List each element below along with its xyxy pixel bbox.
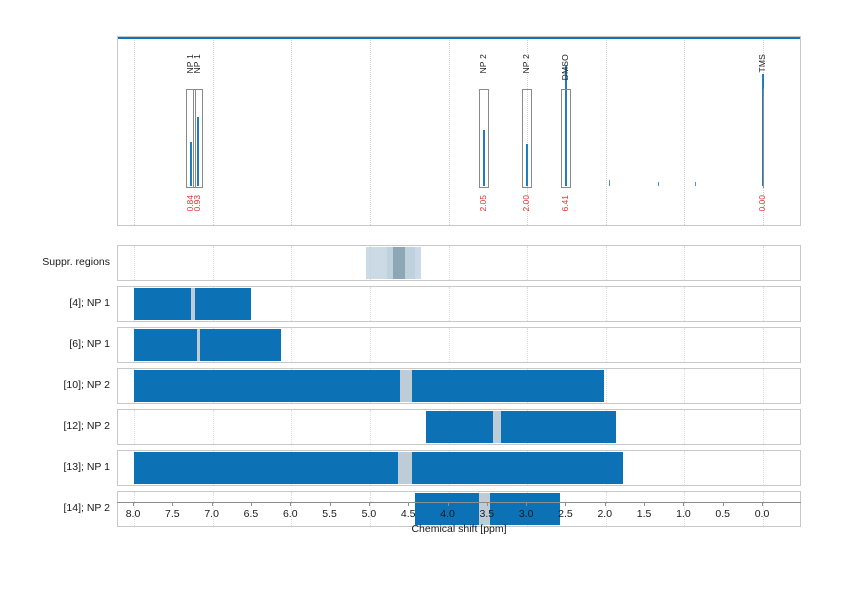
- track-row[interactable]: [117, 450, 801, 486]
- axis-tick: [487, 502, 488, 506]
- track-row[interactable]: [117, 368, 801, 404]
- axis-tick: [565, 502, 566, 506]
- gridline: [134, 410, 136, 444]
- axis-tick: [290, 502, 291, 506]
- axis-tick-label: 1.5: [637, 508, 652, 520]
- assignment-bar: [501, 411, 616, 443]
- track-row[interactable]: [117, 286, 801, 322]
- axis-tick: [644, 502, 645, 506]
- gridline: [763, 410, 765, 444]
- gridline: [134, 37, 136, 225]
- gridline: [370, 410, 372, 444]
- axis-tick-label: 0.0: [755, 508, 770, 520]
- axis-tick-label: 4.0: [440, 508, 455, 520]
- gridline: [763, 451, 765, 485]
- gridline: [291, 287, 293, 321]
- gridline: [763, 369, 765, 403]
- gridline: [606, 246, 608, 280]
- integration-box: [479, 89, 489, 188]
- track-row[interactable]: [117, 409, 801, 445]
- gridline: [291, 246, 293, 280]
- axis-tick-label: 7.5: [165, 508, 180, 520]
- x-axis-title: Chemical shift [ppm]: [117, 523, 801, 535]
- gridline: [370, 37, 372, 225]
- gridline: [291, 328, 293, 362]
- track-row[interactable]: [117, 327, 801, 363]
- axis-tick-label: 7.0: [204, 508, 219, 520]
- axis-tick-label: 3.0: [519, 508, 534, 520]
- gridline: [684, 328, 686, 362]
- x-axis: [117, 502, 801, 503]
- gridline: [684, 287, 686, 321]
- axis-tick-label: 4.5: [401, 508, 416, 520]
- suppression-gap: [400, 370, 412, 402]
- axis-tick: [212, 502, 213, 506]
- assignment-bar: [134, 329, 197, 361]
- minor-peak: [658, 182, 659, 186]
- gridline: [763, 287, 765, 321]
- assignment-bar: [134, 452, 398, 484]
- axis-tick-label: 5.5: [322, 508, 337, 520]
- gridline: [684, 410, 686, 444]
- integral-value: 6.41: [560, 195, 570, 212]
- gridline: [370, 328, 372, 362]
- track-label: Suppr. regions: [0, 256, 110, 268]
- track-label: [13]; NP 1: [0, 461, 110, 473]
- assignment-bar: [195, 288, 251, 320]
- gridline: [606, 287, 608, 321]
- axis-tick: [526, 502, 527, 506]
- axis-tick: [683, 502, 684, 506]
- peak-label: TMS: [757, 54, 767, 73]
- minor-peak: [609, 180, 610, 187]
- axis-tick-label: 2.5: [558, 508, 573, 520]
- peak-label: NP 1: [192, 54, 202, 74]
- spectrum-panel: [117, 36, 801, 226]
- gridline: [527, 328, 529, 362]
- gridline: [213, 37, 215, 225]
- assignment-bar: [426, 411, 492, 443]
- gridline: [684, 37, 686, 225]
- assignment-bar: [412, 452, 624, 484]
- gridline: [449, 287, 451, 321]
- gridline: [449, 37, 451, 225]
- gridline: [606, 369, 608, 403]
- axis-tick: [408, 502, 409, 506]
- axis-tick-label: 3.5: [480, 508, 495, 520]
- axis-tick: [605, 502, 606, 506]
- axis-tick-label: 0.5: [715, 508, 730, 520]
- axis-tick: [723, 502, 724, 506]
- track-row[interactable]: [117, 491, 801, 527]
- axis-tick-label: 6.5: [244, 508, 259, 520]
- gridline: [763, 246, 765, 280]
- gridline: [291, 410, 293, 444]
- axis-tick-label: 2.0: [597, 508, 612, 520]
- axis-tick: [133, 502, 134, 506]
- suppression-band: [393, 247, 405, 279]
- axis-tick: [369, 502, 370, 506]
- axis-tick-label: 6.0: [283, 508, 298, 520]
- gridline: [370, 287, 372, 321]
- integration-box: [193, 89, 203, 188]
- spectrum-baseline: [118, 37, 800, 39]
- peak-label: DMSO: [560, 54, 570, 80]
- integral-value: 0.93: [192, 195, 202, 212]
- gridline: [763, 328, 765, 362]
- suppression-gap: [398, 452, 411, 484]
- gridline: [606, 37, 608, 225]
- track-label: [10]; NP 2: [0, 379, 110, 391]
- axis-tick: [172, 502, 173, 506]
- axis-tick-label: 5.0: [362, 508, 377, 520]
- track-row[interactable]: [117, 245, 801, 281]
- axis-tick-label: 8.0: [126, 508, 141, 520]
- gridline: [684, 246, 686, 280]
- integral-value: 2.00: [521, 195, 531, 212]
- integral-value: 2.05: [478, 195, 488, 212]
- gridline: [449, 246, 451, 280]
- gridline: [213, 246, 215, 280]
- peak-label: NP 2: [521, 54, 531, 74]
- track-label: [14]; NP 2: [0, 502, 110, 514]
- gridline: [291, 37, 293, 225]
- gridline: [213, 410, 215, 444]
- integration-box: [522, 89, 532, 188]
- nmr-figure: NP 10.84NP 10.93NP 22.05NP 22.00DMSO6.41…: [0, 0, 842, 595]
- axis-tick: [762, 502, 763, 506]
- gridline: [134, 246, 136, 280]
- gridline: [684, 369, 686, 403]
- axis-tick: [448, 502, 449, 506]
- axis-tick-label: 1.0: [676, 508, 691, 520]
- integration-box: [561, 89, 571, 188]
- gridline: [527, 287, 529, 321]
- track-label: [6]; NP 1: [0, 338, 110, 350]
- gridline: [684, 451, 686, 485]
- track-label: [12]; NP 2: [0, 420, 110, 432]
- assignment-bar: [200, 329, 281, 361]
- assignment-bar: [412, 370, 605, 402]
- integral-value: 0.00: [757, 195, 767, 212]
- gridline: [449, 328, 451, 362]
- peak-label: NP 2: [478, 54, 488, 74]
- assignment-bar: [134, 370, 400, 402]
- gridline: [527, 246, 529, 280]
- minor-peak: [695, 182, 696, 186]
- integration-line: [763, 89, 764, 188]
- suppression-gap: [493, 411, 502, 443]
- gridline: [606, 328, 608, 362]
- axis-tick: [251, 502, 252, 506]
- track-label: [4]; NP 1: [0, 297, 110, 309]
- axis-tick: [330, 502, 331, 506]
- assignment-bar: [134, 288, 191, 320]
